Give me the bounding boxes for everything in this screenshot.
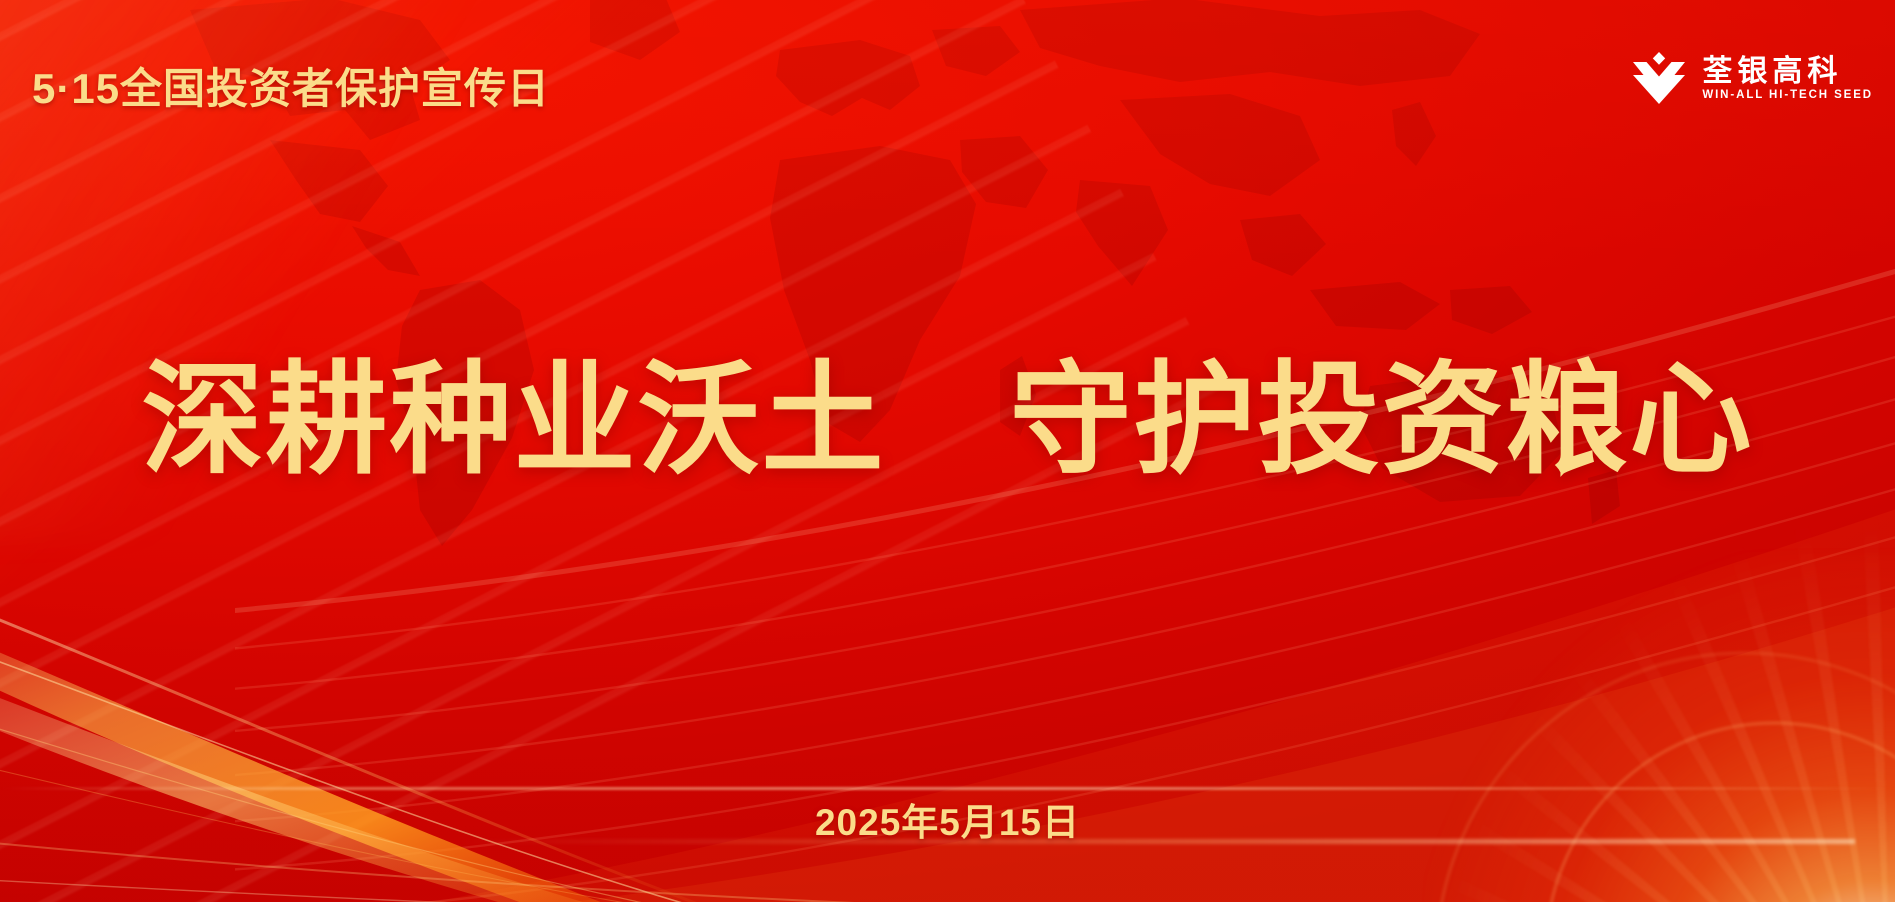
campaign-eyebrow-title: 5·15全国投资者保护宣传日 — [32, 55, 550, 116]
logo-name-cn: 荃银高科 — [1702, 57, 1873, 87]
logo-name-en: WIN-ALL HI-TECH SEED — [1702, 90, 1873, 102]
investor-protection-day-banner: 5·15全国投资者保护宣传日 荃银高科 WIN-ALL HI-TECH SEED… — [0, 0, 1895, 902]
company-logo: 荃银高科 WIN-ALL HI-TECH SEED — [1630, 52, 1873, 106]
main-headline: 深耕种业沃土 守护投资粮心 — [0, 350, 1895, 490]
banner-content: 5·15全国投资者保护宣传日 荃银高科 WIN-ALL HI-TECH SEED… — [0, 0, 1895, 902]
event-date: 2025年5月15日 — [0, 792, 1895, 846]
win-all-chevron-logo-icon — [1630, 52, 1688, 106]
logo-wordmark: 荃银高科 WIN-ALL HI-TECH SEED — [1702, 57, 1873, 102]
